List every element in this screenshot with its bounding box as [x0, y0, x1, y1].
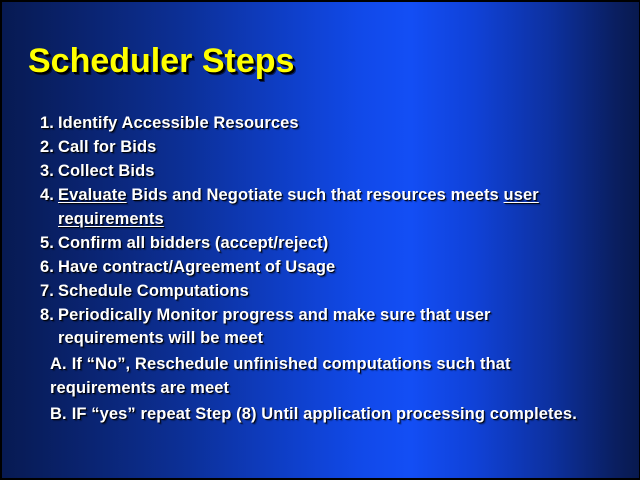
list-item-7: 7.Schedule Computations — [40, 280, 598, 304]
list-item-text: Collect Bids — [58, 162, 155, 180]
list-item-marker: 8. — [40, 306, 58, 324]
sub-item-text: IF “yes” repeat Step (8) Until applicati… — [72, 405, 577, 423]
list-item-emphasis-evaluate: Evaluate — [58, 186, 127, 204]
list-item-5: 5.Confirm all bidders (accept/reject) — [40, 232, 598, 256]
list-item-text: Schedule Computations — [58, 282, 249, 300]
list-item-6: 6.Have contract/Agreement of Usage — [40, 256, 598, 280]
list-item-text: Bids and Negotiate such that resources m… — [127, 186, 504, 204]
list-item-1: 1.Identify Accessible Resources — [40, 112, 598, 136]
list-item-text: Call for Bids — [58, 138, 156, 156]
list-item-marker: 3. — [40, 162, 58, 180]
list-item-text: Confirm all bidders (accept/reject) — [58, 234, 328, 252]
page-title: Scheduler Steps — [28, 42, 294, 81]
list-item-marker: 5. — [40, 234, 58, 252]
list-item-marker: 7. — [40, 282, 58, 300]
sub-item-marker: A. — [50, 355, 72, 373]
steps-list: 1.Identify Accessible Resources 2.Call f… — [2, 112, 640, 427]
list-item-8: 8.Periodically Monitor progress and make… — [40, 304, 598, 351]
slide-canvas: Scheduler Steps 1.Identify Accessible Re… — [0, 0, 640, 480]
sub-item-marker: B. — [50, 405, 72, 423]
sub-item-a: A.If “No”, Reschedule unfinished computa… — [50, 351, 610, 400]
list-item-text: Identify Accessible Resources — [58, 114, 299, 132]
list-item-marker: 1. — [40, 114, 58, 132]
list-item-text: Periodically Monitor progress and make s… — [58, 306, 491, 348]
sub-item-b: B.IF “yes” repeat Step (8) Until applica… — [50, 401, 610, 427]
sub-item-text: If “No”, Reschedule unfinished computati… — [50, 355, 511, 397]
list-item-2: 2.Call for Bids — [40, 136, 598, 160]
list-item-text: Have contract/Agreement of Usage — [58, 258, 335, 276]
list-item-4: 4.Evaluate Bids and Negotiate such that … — [40, 184, 598, 231]
list-item-marker: 6. — [40, 258, 58, 276]
list-item-3: 3.Collect Bids — [40, 160, 598, 184]
list-item-marker: 2. — [40, 138, 58, 156]
list-item-marker: 4. — [40, 186, 58, 204]
